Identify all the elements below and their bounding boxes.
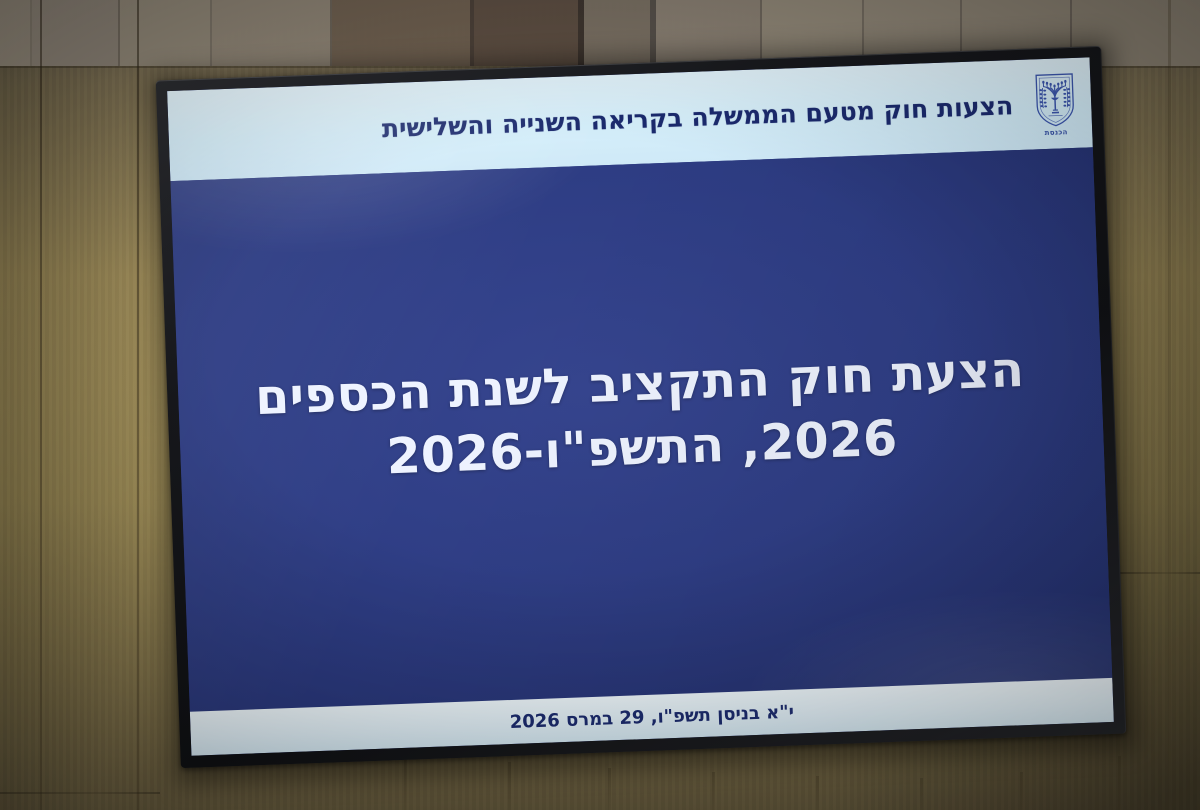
wall-plank-seam (1020, 772, 1023, 810)
slide-main-title: הצעת חוק התקציב לשנת הכספים 2026, התשפ"ו… (214, 336, 1068, 494)
wall-plank-seam (40, 0, 42, 810)
slide-header-title: הצעות חוק מטעם הממשלה בקריאה השנייה והשל… (381, 91, 1013, 143)
presentation-slide: הצעות חוק מטעם הממשלה בקריאה השנייה והשל… (167, 57, 1114, 755)
slide-footer-date: י"א בניסן תשפ"ו, 29 במרס 2026 (509, 701, 794, 732)
wall-mounted-display[interactable]: הצעות חוק מטעם הממשלה בקריאה השנייה והשל… (156, 46, 1127, 768)
emblem-caption: הכנסת (1045, 128, 1068, 137)
wall-plank-seam (816, 776, 819, 810)
wall-plank-seam (1118, 756, 1121, 810)
wall-plank-seam (712, 772, 715, 810)
wall-plank-seam (1168, 0, 1171, 810)
knesset-emblem: הכנסת (1028, 70, 1082, 137)
room-scene: הצעות חוק מטעם הממשלה בקריאה השנייה והשל… (0, 0, 1200, 810)
wall-plank-seam (920, 778, 923, 810)
slide-body: הצעת חוק התקציב לשנת הכספים 2026, התשפ"ו… (170, 147, 1112, 711)
israel-state-emblem-menorah-icon (1032, 70, 1078, 128)
wall-plank-seam (137, 0, 139, 810)
wall-plank-seam (608, 768, 611, 810)
display-bezel: הצעות חוק מטעם הממשלה בקריאה השנייה והשל… (156, 46, 1127, 768)
wall-horizontal-seam (0, 792, 160, 794)
